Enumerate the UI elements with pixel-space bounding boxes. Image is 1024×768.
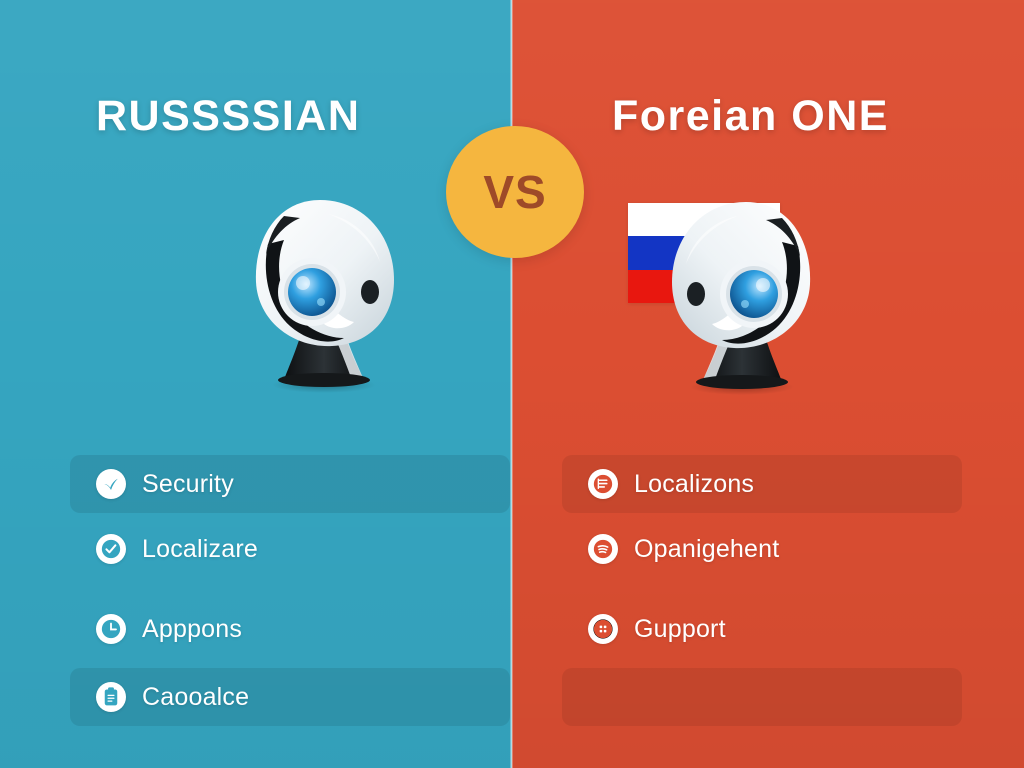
- list-circle-icon: [588, 469, 618, 499]
- robot-head-icon: [228, 188, 418, 393]
- feature-label: Gupport: [634, 615, 726, 644]
- left-panel: RUSSSSIAN: [0, 0, 512, 768]
- feature-row[interactable]: Apppons: [70, 600, 510, 658]
- feature-label: Apppons: [142, 615, 242, 644]
- feature-row[interactable]: [562, 668, 962, 726]
- waves-circle-icon: [588, 534, 618, 564]
- left-panel-title: RUSSSSIAN: [96, 92, 360, 141]
- vs-badge-label: VS: [483, 165, 546, 219]
- feature-row[interactable]: Gupport: [562, 600, 962, 658]
- feature-label: Opanigehent: [634, 535, 779, 564]
- left-feature-list: Security Localizare Apppons Caooalce: [70, 455, 510, 726]
- feature-label: Security: [142, 470, 234, 499]
- check-circle-icon: [96, 534, 126, 564]
- feature-row[interactable]: Caooalce: [70, 668, 510, 726]
- feature-row[interactable]: Localizare: [70, 520, 510, 578]
- right-robot-illustration: [648, 190, 838, 395]
- comparison-infographic: RUSSSSIAN: [0, 0, 1024, 768]
- feature-label: Caooalce: [142, 683, 249, 712]
- left-robot-illustration: [228, 188, 418, 393]
- right-panel-title: Foreian ONE: [612, 92, 889, 141]
- clipboard-icon: [96, 682, 126, 712]
- feature-label: Localizare: [142, 535, 258, 564]
- feature-row[interactable]: Opanigehent: [562, 520, 962, 578]
- robot-head-icon: [648, 190, 838, 395]
- right-feature-list: Localizons Opanigehent Gupport: [562, 455, 962, 726]
- feature-label: Localizons: [634, 470, 754, 499]
- check-circle-icon: [96, 469, 126, 499]
- feature-row[interactable]: Security: [70, 455, 510, 513]
- clock-icon: [96, 614, 126, 644]
- grid-circle-icon: [588, 614, 618, 644]
- vs-badge: VS: [446, 126, 584, 258]
- feature-row[interactable]: Localizons: [562, 455, 962, 513]
- panel-divider: [510, 0, 513, 768]
